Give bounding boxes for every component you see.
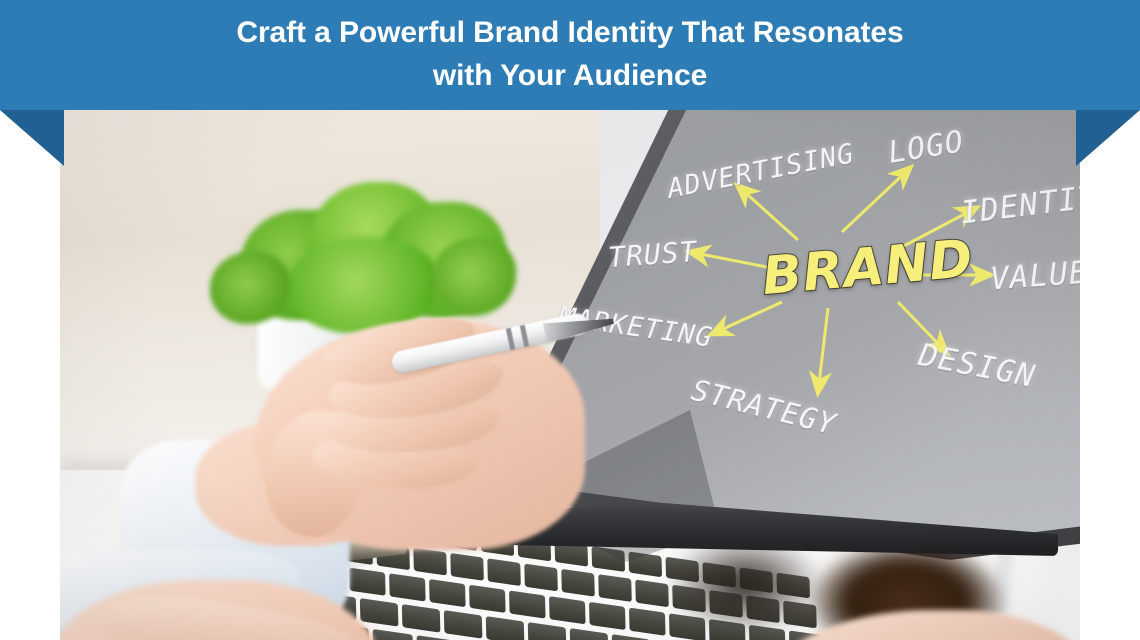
ribbon-tail-right-icon <box>1076 110 1140 166</box>
ribbon-tail-left-icon <box>0 110 64 166</box>
page-title-line-1: Craft a Powerful Brand Identity That Res… <box>236 12 903 55</box>
keyboard-key[interactable] <box>528 622 567 640</box>
mindmap-node-trust: TRUST <box>607 235 698 274</box>
keyboard-key[interactable] <box>635 579 669 607</box>
keyboard-key[interactable] <box>389 573 426 601</box>
page-title-line-2: with Your Audience <box>433 55 707 98</box>
mindmap-node-value: VALUE <box>989 255 1080 298</box>
page-title: Craft a Powerful Brand Identity That Res… <box>0 0 1140 110</box>
keyboard-key[interactable] <box>469 585 506 613</box>
keyboard-key[interactable] <box>524 564 558 592</box>
keyboard-key[interactable] <box>349 568 386 596</box>
keyboard-key[interactable] <box>509 590 546 618</box>
keyboard-key[interactable] <box>570 628 609 640</box>
keyboard-key[interactable] <box>486 616 525 640</box>
keyboard-key[interactable] <box>589 602 626 630</box>
keyboard-key[interactable] <box>444 610 483 639</box>
keyboard-key[interactable] <box>402 604 441 633</box>
keyboard-key[interactable] <box>549 596 586 624</box>
keyboard-key[interactable] <box>612 634 651 640</box>
hero-photo: LOGO ADVERTISING IDENTITY VALUE DESIGN S… <box>60 110 1080 640</box>
header-banner: Craft a Powerful Brand Identity That Res… <box>0 0 1140 110</box>
keyboard-key[interactable] <box>561 569 595 597</box>
keyboard-key[interactable] <box>598 574 632 602</box>
keyboard-key[interactable] <box>417 635 458 640</box>
keyboard-key[interactable] <box>373 629 414 640</box>
keyboard-key[interactable] <box>487 558 521 586</box>
keyboard-key[interactable] <box>360 598 399 627</box>
keyboard-key[interactable] <box>429 579 466 607</box>
keyboard-key[interactable] <box>629 608 666 636</box>
